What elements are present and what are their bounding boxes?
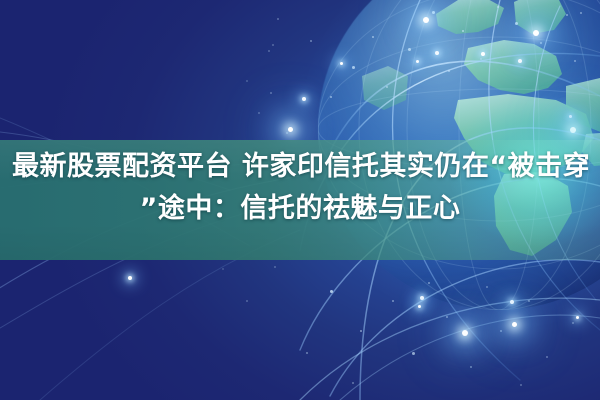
- page-title: 最新股票配资平台 许家印信托其实仍在“被击穿 ”途中：信托的祛魅与正心: [0, 146, 600, 230]
- headline-line-1: 最新股票配资平台 许家印信托其实仍在“被击穿: [12, 146, 588, 188]
- headline-line-2: ”途中：信托的祛魅与正心: [12, 188, 588, 230]
- article-banner: 最新股票配资平台 许家印信托其实仍在“被击穿 ”途中：信托的祛魅与正心: [0, 0, 600, 400]
